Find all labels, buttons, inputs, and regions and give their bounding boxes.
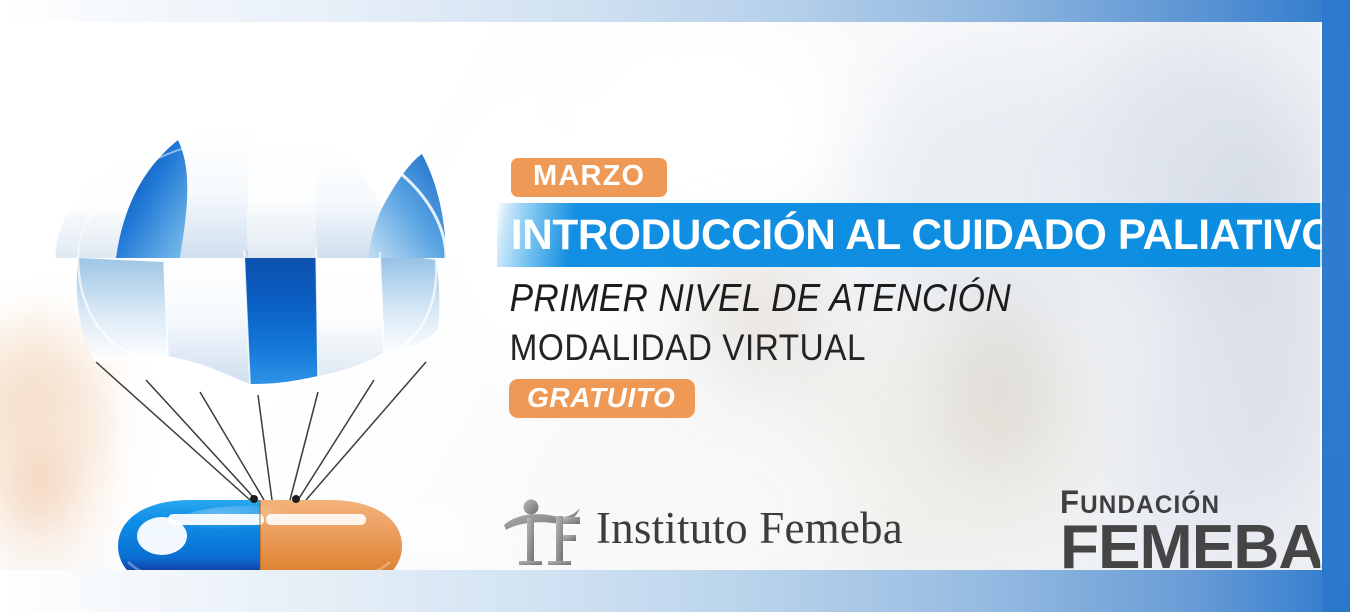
right-blue-border (1322, 0, 1350, 612)
title-banner-bar: INTRODUCCIÓN AL CUIDADO PALIATIVO (497, 203, 1322, 267)
subtitle: PRIMER NIVEL DE ATENCIÓN (497, 277, 1244, 321)
instituto-femeba-figure-mark (502, 494, 594, 566)
banner-text-block: MARZO INTRODUCCIÓN AL CUIDADO PALIATIVO … (497, 158, 1327, 418)
top-blue-border (0, 0, 1350, 22)
bottom-blue-border (0, 570, 1350, 612)
modality-text: MODALIDAD VIRTUAL (497, 327, 1244, 369)
page-title: INTRODUCCIÓN AL CUIDADO PALIATIVO (497, 211, 1334, 260)
parachute-graphic (18, 62, 488, 582)
month-badge: MARZO (511, 158, 667, 197)
instituto-femeba-logo: Instituto Femeba (502, 494, 903, 566)
instituto-femeba-wordmark: Instituto Femeba (596, 506, 903, 555)
frame-inner-highlight (1320, 22, 1322, 570)
price-badge: GRATUITO (509, 379, 695, 418)
femeba-wordmark-line2: FEMEBA (1060, 519, 1323, 576)
promotional-banner: MARZO INTRODUCCIÓN AL CUIDADO PALIATIVO … (0, 0, 1350, 612)
fundacion-femeba-logo: FUNDACIÓN FEMEBA (1060, 486, 1316, 576)
